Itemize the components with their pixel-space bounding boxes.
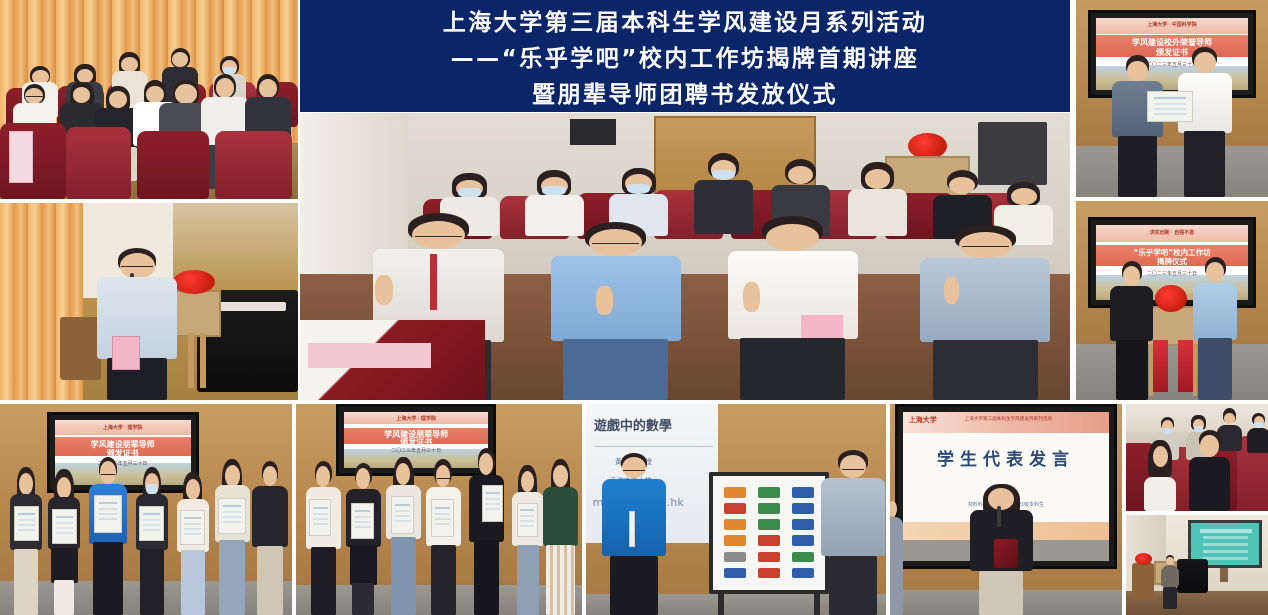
slide-logo-text: 上海大学 [909,415,937,425]
slide-banner-text: 上海大学第三届本科生学风建设月系列活动 [965,416,1052,422]
photo-collage: 上海大学第三届本科生学风建设月系列活动 ——“乐乎学吧”校内工作坊揭牌首期讲座 … [0,0,1268,615]
photo-audience-seated [0,0,298,199]
slide-logo-text: 上海大学 · 理学院 [63,424,183,431]
photo-certificate-group-1: 上海大学 · 理学院 学风建设朋辈导师 颁发证书 二〇二三年五月三十日 [0,404,292,615]
photo-plaque-unveiling: 求实创新 · 自强不息 “乐乎学吧”校内工作坊 揭牌仪式 二〇二三年五月三十日 [1076,201,1268,400]
photo-student-speech: 上海大学 上海大学第三届本科生学风建设月系列活动 学生代表发言 宋 薇 材料科学… [890,404,1122,615]
photo-audience-closeup [1126,404,1268,511]
slide-logo-text: 上海大学 · 中国科学院 [1105,21,1240,28]
photo-presenter-projection [1126,515,1268,615]
slide-title: 遊戲中的數學 [594,415,672,434]
title-line-1: 上海大学第三届本科生学风建设月系列活动 [443,3,928,37]
photo-group-thumbs-up [300,113,1070,400]
slide-logo-text: 上海大学 · 理学院 [353,415,480,422]
slide-title-line2: 颁发证书 [344,437,488,448]
title-line-2: ——“乐乎学吧”校内工作坊揭牌首期讲座 [451,39,920,73]
photo-certificate-group-2: 上海大学 · 理学院 学风建设朋辈导师 颁发证书 二〇二三年五月三十日 [296,404,582,615]
photo-lecture-whiteboard: 遊戲中的數學 黃毅英 教授 香港中文大学 michael@hku.hk [586,404,886,615]
photo-speaker-microphone [0,203,298,400]
title-line-3: 暨朋辈导师团聘书发放仪式 [532,75,838,109]
slide-title: 学生代表发言 [903,445,1110,470]
whiteboard [709,472,829,594]
slide-date-text: 二〇二三年五月三十日 [344,447,488,454]
slide-logo-text: 求实创新 · 自强不息 [1105,229,1240,236]
event-title-banner: 上海大学第三届本科生学风建设月系列活动 ——“乐乎学吧”校内工作坊揭牌首期讲座 … [300,0,1070,112]
photo-certificate-handover: 上海大学 · 中国科学院 学风建设校外荣誉导师 颁发证书 二〇二三年五月三十日 [1076,0,1268,197]
